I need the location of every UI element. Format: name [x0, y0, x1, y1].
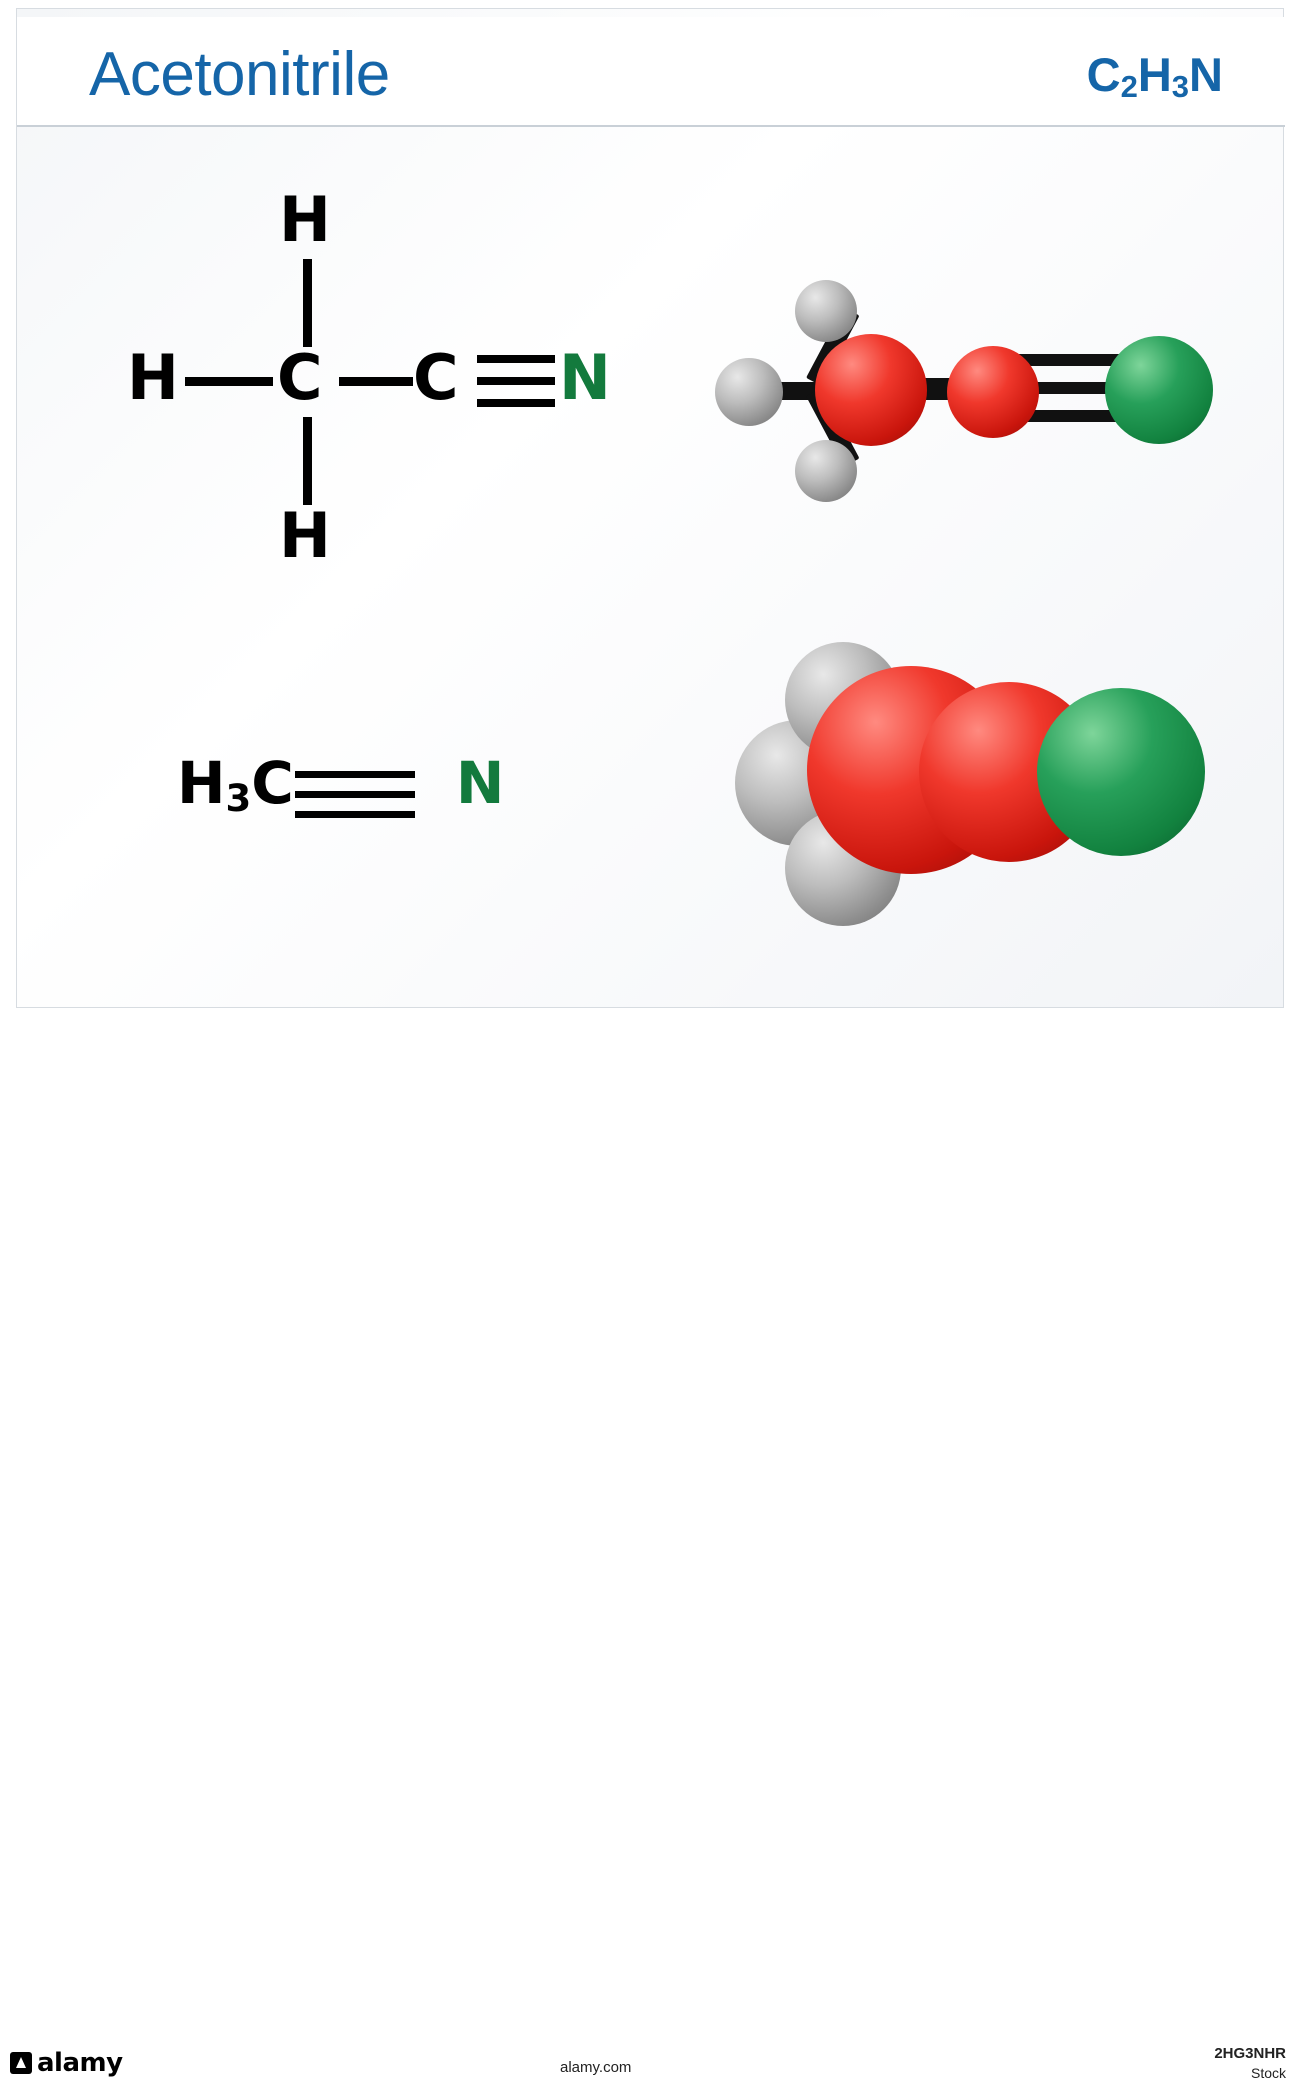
bond-c-h-bottom [303, 417, 312, 505]
atom-label-c-center: C [277, 347, 323, 409]
atom-sphere-c-methyl [815, 334, 927, 446]
atom-label-h-bottom: H [279, 505, 331, 567]
illustration-card: Acetonitrile C2H3N H H C C N H H [16, 8, 1284, 1008]
atom-sphere-h-left [715, 358, 783, 426]
molecular-formula: C2H3N [1087, 47, 1223, 105]
bond-c-c [339, 377, 413, 386]
spacefill-n [1037, 688, 1205, 856]
atom-sphere-n [1105, 336, 1213, 444]
condensed-n: N [456, 749, 505, 817]
atom-sphere-c-nitrile [947, 346, 1039, 438]
condensed-bond-line-2 [295, 791, 415, 798]
condensed-sub-3: 3 [226, 777, 252, 820]
bond-triple-line-1 [477, 355, 555, 363]
space-filling-model [707, 634, 1227, 934]
formula-sub-2: 2 [1121, 69, 1138, 104]
bond-triple-line-2 [477, 377, 555, 385]
page-title: Acetonitrile [89, 39, 390, 110]
condensed-bond-line-3 [295, 811, 415, 818]
atom-label-h-top: H [279, 189, 331, 251]
condensed-h: H [177, 749, 226, 817]
formula-c1: C [1087, 48, 1121, 101]
condensed-formula: H3CN [177, 749, 577, 869]
footer-caption: alamy.com [560, 2059, 631, 2076]
atom-label-h-left: H [127, 347, 179, 409]
stock-label: Stock [1214, 2064, 1286, 2083]
bond-c-h-left [185, 377, 273, 386]
alamy-logo: alamy [10, 2048, 123, 2078]
atom-label-n: N [559, 347, 611, 409]
bond-c-h-top [303, 259, 312, 347]
alamy-mark-icon [10, 2052, 32, 2074]
structural-formula: H H C C N H [117, 189, 637, 589]
ball-and-stick-model [707, 274, 1227, 514]
condensed-formula-text: H3CN [177, 749, 504, 820]
condensed-bond-line-1 [295, 771, 415, 778]
footer-image-id: 2HG3NHR Stock [1214, 2044, 1286, 2083]
title-bar: Acetonitrile C2H3N [17, 17, 1285, 127]
footer-bar: alamy alamy.com 2HG3NHR Stock [0, 1018, 1300, 1078]
atom-label-c-right: C [413, 347, 459, 409]
condensed-c: C [251, 749, 294, 817]
atom-sphere-h-top [795, 280, 857, 342]
alamy-wordmark: alamy [37, 2048, 123, 2078]
atom-sphere-h-bottom [795, 440, 857, 502]
formula-h: H [1138, 48, 1172, 101]
formula-n: N [1189, 48, 1223, 101]
image-id-value: 2HG3NHR [1214, 2044, 1286, 2064]
bond-triple-line-3 [477, 399, 555, 407]
formula-sub-3: 3 [1172, 69, 1189, 104]
